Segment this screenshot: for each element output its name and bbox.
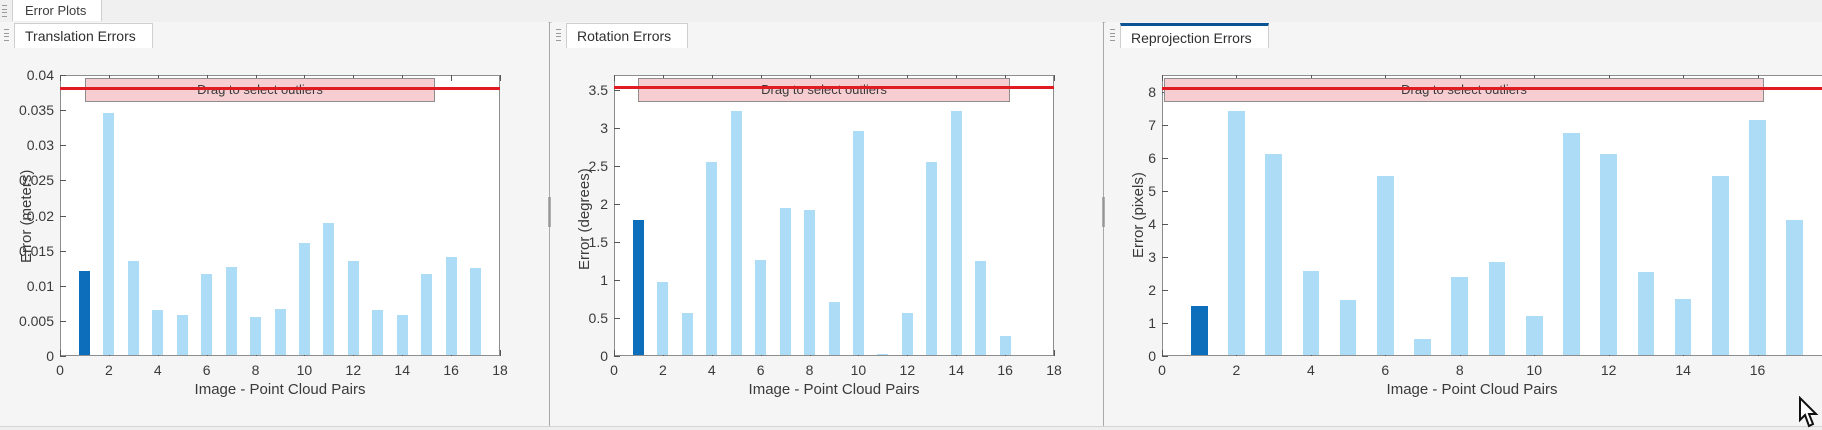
y-tick-label: 3 [558, 120, 608, 136]
panel-divider-2[interactable] [1103, 22, 1104, 430]
bar[interactable] [446, 257, 457, 355]
tab-reprojection-errors[interactable]: Reprojection Errors [1120, 23, 1269, 48]
x-tick-mark [60, 350, 61, 356]
x-tick-label: 0 [1158, 362, 1166, 378]
x-tick-label: 12 [1601, 362, 1617, 378]
bar[interactable] [1675, 299, 1692, 355]
y-tick-mark [60, 286, 66, 287]
bar[interactable] [902, 313, 913, 355]
y-tick-mark [60, 145, 66, 146]
bar[interactable] [397, 315, 408, 355]
y-tick-label: 3.5 [558, 82, 608, 98]
x-tick-label: 2 [659, 362, 667, 378]
x-tick-label: 12 [900, 362, 916, 378]
y-tick-mark [1162, 290, 1168, 291]
bar[interactable] [780, 208, 791, 355]
y-tick-mark [1162, 323, 1168, 324]
y-tick-label: 0.04 [4, 67, 54, 83]
bar[interactable] [657, 282, 668, 355]
panel-row: Translation Errors Error (meters) 00.005… [0, 22, 1822, 430]
threshold-line[interactable] [614, 86, 1054, 89]
tab-translation-errors[interactable]: Translation Errors [14, 23, 153, 48]
x-tick-label: 2 [105, 362, 113, 378]
y-tick-mark [60, 110, 66, 111]
bar[interactable] [731, 111, 742, 355]
y-tick-mark [1162, 125, 1168, 126]
y-tick-label: 0.03 [4, 137, 54, 153]
panel-translation-errors: Translation Errors Error (meters) 00.005… [0, 22, 548, 430]
y-tick-label: 0.02 [4, 208, 54, 224]
threshold-line[interactable] [1162, 87, 1822, 90]
bar[interactable] [1340, 300, 1357, 355]
y-tick-label: 0 [1106, 348, 1156, 364]
bar[interactable] [1414, 339, 1431, 355]
drag-grip-icon[interactable] [556, 29, 561, 41]
y-tick-mark [614, 280, 620, 281]
x-tick-mark [500, 350, 501, 356]
y-tick-mark [614, 356, 620, 357]
bar[interactable] [1563, 133, 1580, 355]
plot-translation-errors: Error (meters) 00.0050.010.0150.020.0250… [0, 48, 548, 430]
bar[interactable] [829, 302, 840, 355]
bar[interactable] [1228, 111, 1245, 355]
y-tick-mark [1162, 224, 1168, 225]
bar[interactable] [1749, 120, 1766, 355]
x-axis-label: Image - Point Cloud Pairs [614, 381, 1054, 398]
x-tick-label: 10 [297, 362, 313, 378]
outlier-selection-band[interactable]: Drag to select outliers [638, 78, 1010, 102]
bar[interactable] [706, 162, 717, 355]
tab-rotation-errors[interactable]: Rotation Errors [566, 23, 688, 48]
panel-tabbar-1: Translation Errors [0, 22, 548, 49]
bar[interactable] [372, 310, 383, 355]
error-plots-app: Error Plots Translation Errors Error (me… [0, 0, 1822, 430]
y-tick-label: 1 [558, 272, 608, 288]
bar[interactable] [951, 111, 962, 355]
bar[interactable] [1638, 272, 1655, 355]
tab-label: Translation Errors [25, 28, 136, 44]
x-tick-label: 18 [1046, 362, 1062, 378]
outlier-band-label: Drag to select outliers [761, 82, 887, 97]
panel-divider-1[interactable] [549, 22, 550, 430]
x-tick-mark-top [614, 75, 615, 81]
bar[interactable] [1600, 154, 1617, 355]
y-tick-label: 0 [4, 348, 54, 364]
x-tick-label: 16 [1750, 362, 1766, 378]
bar[interactable] [103, 113, 114, 355]
panel-tabbar-2: Rotation Errors [552, 22, 1102, 49]
y-tick-mark [60, 251, 66, 252]
bar[interactable] [226, 267, 237, 355]
y-tick-label: 0.015 [4, 243, 54, 259]
bar[interactable] [975, 261, 986, 355]
x-tick-label: 4 [1307, 362, 1315, 378]
bar[interactable] [633, 220, 644, 355]
x-tick-label: 6 [757, 362, 765, 378]
y-axis-label: Error (degrees) [576, 168, 593, 270]
y-tick-mark [614, 242, 620, 243]
plot-reprojection-errors: Error (pixels) 0123456780246810121416 Dr… [1106, 48, 1822, 430]
y-tick-mark [614, 128, 620, 129]
y-tick-label: 5 [1106, 183, 1156, 199]
y-tick-mark [1162, 257, 1168, 258]
x-tick-label: 10 [1526, 362, 1542, 378]
x-tick-label: 6 [203, 362, 211, 378]
x-tick-label: 8 [252, 362, 260, 378]
bar[interactable] [299, 243, 310, 355]
bottom-scroll-strip[interactable] [0, 426, 1822, 430]
bar[interactable] [1303, 271, 1320, 355]
x-tick-label: 14 [1675, 362, 1691, 378]
x-tick-mark [1162, 350, 1163, 356]
bar[interactable] [926, 162, 937, 355]
x-tick-label: 0 [56, 362, 64, 378]
y-tick-label: 8 [1106, 84, 1156, 100]
x-tick-label: 18 [492, 362, 508, 378]
y-tick-label: 1 [1106, 315, 1156, 331]
x-axis-label: Image - Point Cloud Pairs [60, 381, 500, 398]
y-tick-label: 0.005 [4, 313, 54, 329]
bar[interactable] [275, 309, 286, 355]
bar[interactable] [128, 261, 139, 355]
x-tick-label: 14 [394, 362, 410, 378]
y-tick-mark [1162, 356, 1168, 357]
y-tick-mark [614, 90, 620, 91]
y-tick-mark [1162, 191, 1168, 192]
plot-rotation-errors: Error (degrees) 00.511.522.533.502468101… [552, 48, 1102, 430]
x-tick-label: 4 [154, 362, 162, 378]
y-tick-label: 2.5 [558, 158, 608, 174]
y-tick-label: 7 [1106, 117, 1156, 133]
bar[interactable] [201, 274, 212, 355]
bar[interactable] [323, 223, 334, 355]
bar[interactable] [1712, 176, 1729, 355]
x-tick-label: 6 [1381, 362, 1389, 378]
outlier-selection-band[interactable]: Drag to select outliers [85, 78, 435, 102]
bar[interactable] [1377, 176, 1394, 355]
drag-grip-icon[interactable] [2, 5, 7, 17]
y-tick-label: 0.5 [558, 310, 608, 326]
y-tick-mark [60, 216, 66, 217]
x-tick-mark-top [1054, 75, 1055, 81]
mouse-cursor-icon [1794, 396, 1820, 430]
drag-grip-icon[interactable] [4, 29, 9, 41]
bar[interactable] [421, 274, 432, 355]
x-tick-mark [1054, 350, 1055, 356]
bar[interactable] [1191, 306, 1208, 355]
bar[interactable] [1489, 262, 1506, 355]
bar[interactable] [755, 260, 766, 355]
panel-tabbar-3: Reprojection Errors [1106, 22, 1822, 49]
panel-rotation-errors: Rotation Errors Error (degrees) 00.511.5… [552, 22, 1102, 430]
document-tabbar: Error Plots [0, 0, 1822, 23]
divider-handle[interactable] [548, 197, 551, 227]
bar[interactable] [853, 131, 864, 355]
y-tick-label: 6 [1106, 150, 1156, 166]
x-axis-label: Image - Point Cloud Pairs [1162, 381, 1782, 398]
x-tick-mark-top [451, 75, 452, 81]
x-tick-mark-top [500, 75, 501, 81]
x-tick-label: 12 [346, 362, 362, 378]
bar[interactable] [1265, 154, 1282, 355]
document-tab-error-plots[interactable]: Error Plots [12, 0, 102, 21]
x-tick-label: 8 [806, 362, 814, 378]
x-tick-mark-top [1162, 75, 1163, 81]
y-tick-mark [60, 180, 66, 181]
x-tick-label: 16 [443, 362, 459, 378]
x-tick-label: 14 [948, 362, 964, 378]
bar[interactable] [470, 268, 481, 355]
x-tick-label: 8 [1456, 362, 1464, 378]
x-tick-mark [614, 350, 615, 356]
x-tick-label: 16 [997, 362, 1013, 378]
bar[interactable] [152, 310, 163, 355]
bar[interactable] [1000, 336, 1011, 355]
x-tick-label: 4 [708, 362, 716, 378]
bar[interactable] [1451, 277, 1468, 355]
threshold-line[interactable] [60, 87, 500, 90]
divider-handle[interactable] [1102, 197, 1105, 227]
bar[interactable] [250, 317, 261, 355]
y-tick-label: 2 [1106, 282, 1156, 298]
y-tick-mark [1162, 158, 1168, 159]
bar[interactable] [804, 210, 815, 355]
y-tick-label: 0.025 [4, 172, 54, 188]
drag-grip-icon[interactable] [1110, 29, 1115, 41]
document-tab-label: Error Plots [25, 3, 86, 18]
bar[interactable] [177, 315, 188, 355]
y-tick-label: 3 [1106, 249, 1156, 265]
bar[interactable] [348, 261, 359, 355]
bar[interactable] [79, 271, 90, 355]
x-tick-label: 10 [851, 362, 867, 378]
y-tick-mark [614, 204, 620, 205]
bar[interactable] [1786, 220, 1803, 355]
y-tick-label: 0.035 [4, 102, 54, 118]
bar[interactable] [1526, 316, 1543, 355]
y-tick-label: 0 [558, 348, 608, 364]
y-tick-mark [614, 318, 620, 319]
tab-label: Rotation Errors [577, 28, 671, 44]
x-tick-label: 2 [1233, 362, 1241, 378]
y-tick-mark [60, 356, 66, 357]
y-tick-label: 0.01 [4, 278, 54, 294]
bar[interactable] [682, 313, 693, 355]
y-tick-label: 1.5 [558, 234, 608, 250]
x-tick-mark-top [60, 75, 61, 81]
x-tick-label: 0 [610, 362, 618, 378]
tab-label: Reprojection Errors [1131, 30, 1252, 46]
y-tick-label: 2 [558, 196, 608, 212]
y-tick-label: 4 [1106, 216, 1156, 232]
bar[interactable] [877, 354, 888, 355]
panel-reprojection-errors: Reprojection Errors Error (pixels) 01234… [1106, 22, 1822, 430]
y-tick-mark [60, 321, 66, 322]
y-tick-mark [614, 166, 620, 167]
